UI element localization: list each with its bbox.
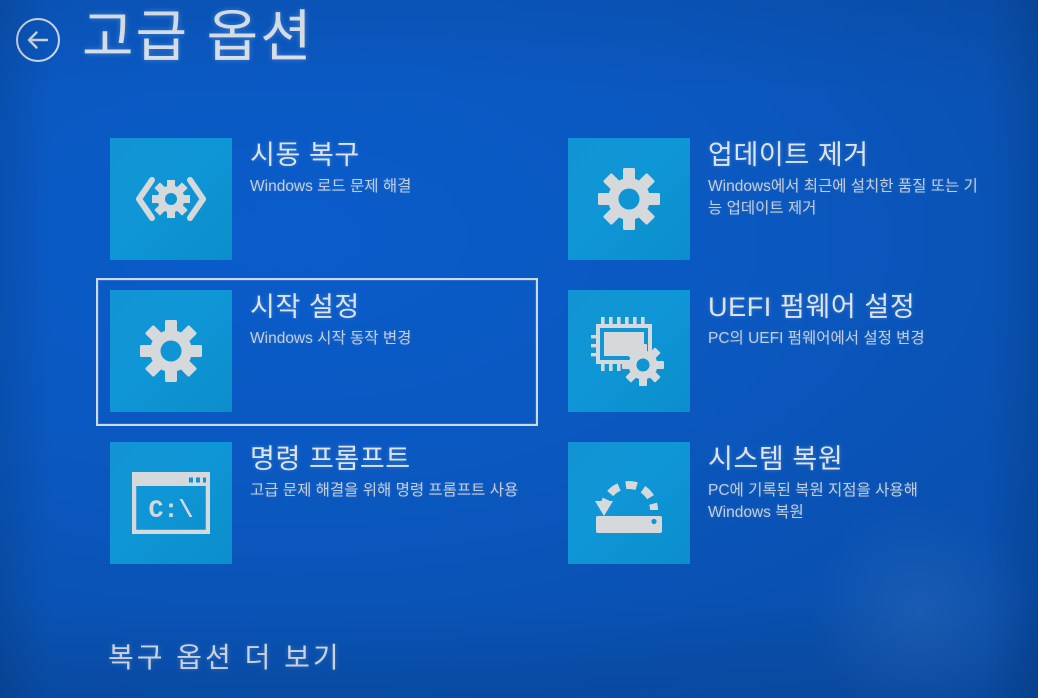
svg-text:C:\: C:\ [148, 496, 193, 525]
option-text: 시작 설정 Windows 시작 동작 변경 [250, 290, 411, 350]
option-title: 시동 복구 [250, 140, 411, 172]
option-text: 시동 복구 Windows 로드 문제 해결 [250, 138, 411, 198]
options-grid: 시동 복구 Windows 로드 문제 해결 [96, 126, 996, 578]
console-window-icon: C:\ [110, 442, 232, 564]
option-description: Windows 로드 문제 해결 [250, 176, 411, 198]
chip-with-gear-icon [568, 290, 690, 412]
option-description: Windows 시작 동작 변경 [250, 328, 411, 350]
see-more-recovery-options-link[interactable]: 복구 옵션 더 보기 [108, 636, 342, 676]
option-description: 고급 문제 해결을 위해 명령 프롬프트 사용 [250, 480, 518, 502]
gear-icon [568, 138, 690, 260]
option-startup-repair[interactable]: 시동 복구 Windows 로드 문제 해결 [96, 126, 538, 274]
option-startup-settings[interactable]: 시작 설정 Windows 시작 동작 변경 [96, 278, 538, 426]
option-uninstall-updates[interactable]: 업데이트 제거 Windows에서 최근에 설치한 품질 또는 기능 업데이트 … [554, 126, 996, 274]
gear-in-brackets-icon [110, 138, 232, 260]
option-title: 명령 프롬프트 [250, 444, 518, 476]
back-arrow-icon[interactable] [16, 18, 60, 62]
option-description: PC의 UEFI 펌웨어에서 설정 변경 [708, 328, 925, 350]
option-text: 시스템 복원 PC에 기록된 복원 지점을 사용해 Windows 복원 [708, 442, 982, 524]
page-header: 고급 옵션 [16, 8, 314, 67]
option-system-restore[interactable]: 시스템 복원 PC에 기록된 복원 지점을 사용해 Windows 복원 [554, 430, 996, 578]
option-command-prompt[interactable]: C:\ 명령 프롬프트 고급 문제 해결을 위해 명령 프롬프트 사용 [96, 430, 538, 578]
option-title: UEFI 펌웨어 설정 [708, 292, 925, 324]
restore-disk-icon [568, 442, 690, 564]
option-text: UEFI 펌웨어 설정 PC의 UEFI 펌웨어에서 설정 변경 [708, 290, 925, 350]
page-title: 고급 옵션 [82, 8, 314, 67]
option-text: 업데이트 제거 Windows에서 최근에 설치한 품질 또는 기능 업데이트 … [708, 138, 982, 220]
recovery-screen: 고급 옵션 [0, 0, 1038, 698]
gear-icon [110, 290, 232, 412]
option-text: 명령 프롬프트 고급 문제 해결을 위해 명령 프롬프트 사용 [250, 442, 518, 502]
option-title: 시스템 복원 [708, 444, 982, 476]
option-description: PC에 기록된 복원 지점을 사용해 Windows 복원 [708, 480, 982, 524]
option-description: Windows에서 최근에 설치한 품질 또는 기능 업데이트 제거 [708, 176, 982, 220]
option-title: 시작 설정 [250, 292, 411, 324]
option-title: 업데이트 제거 [708, 140, 982, 172]
option-uefi-firmware-settings[interactable]: UEFI 펌웨어 설정 PC의 UEFI 펌웨어에서 설정 변경 [554, 278, 996, 426]
